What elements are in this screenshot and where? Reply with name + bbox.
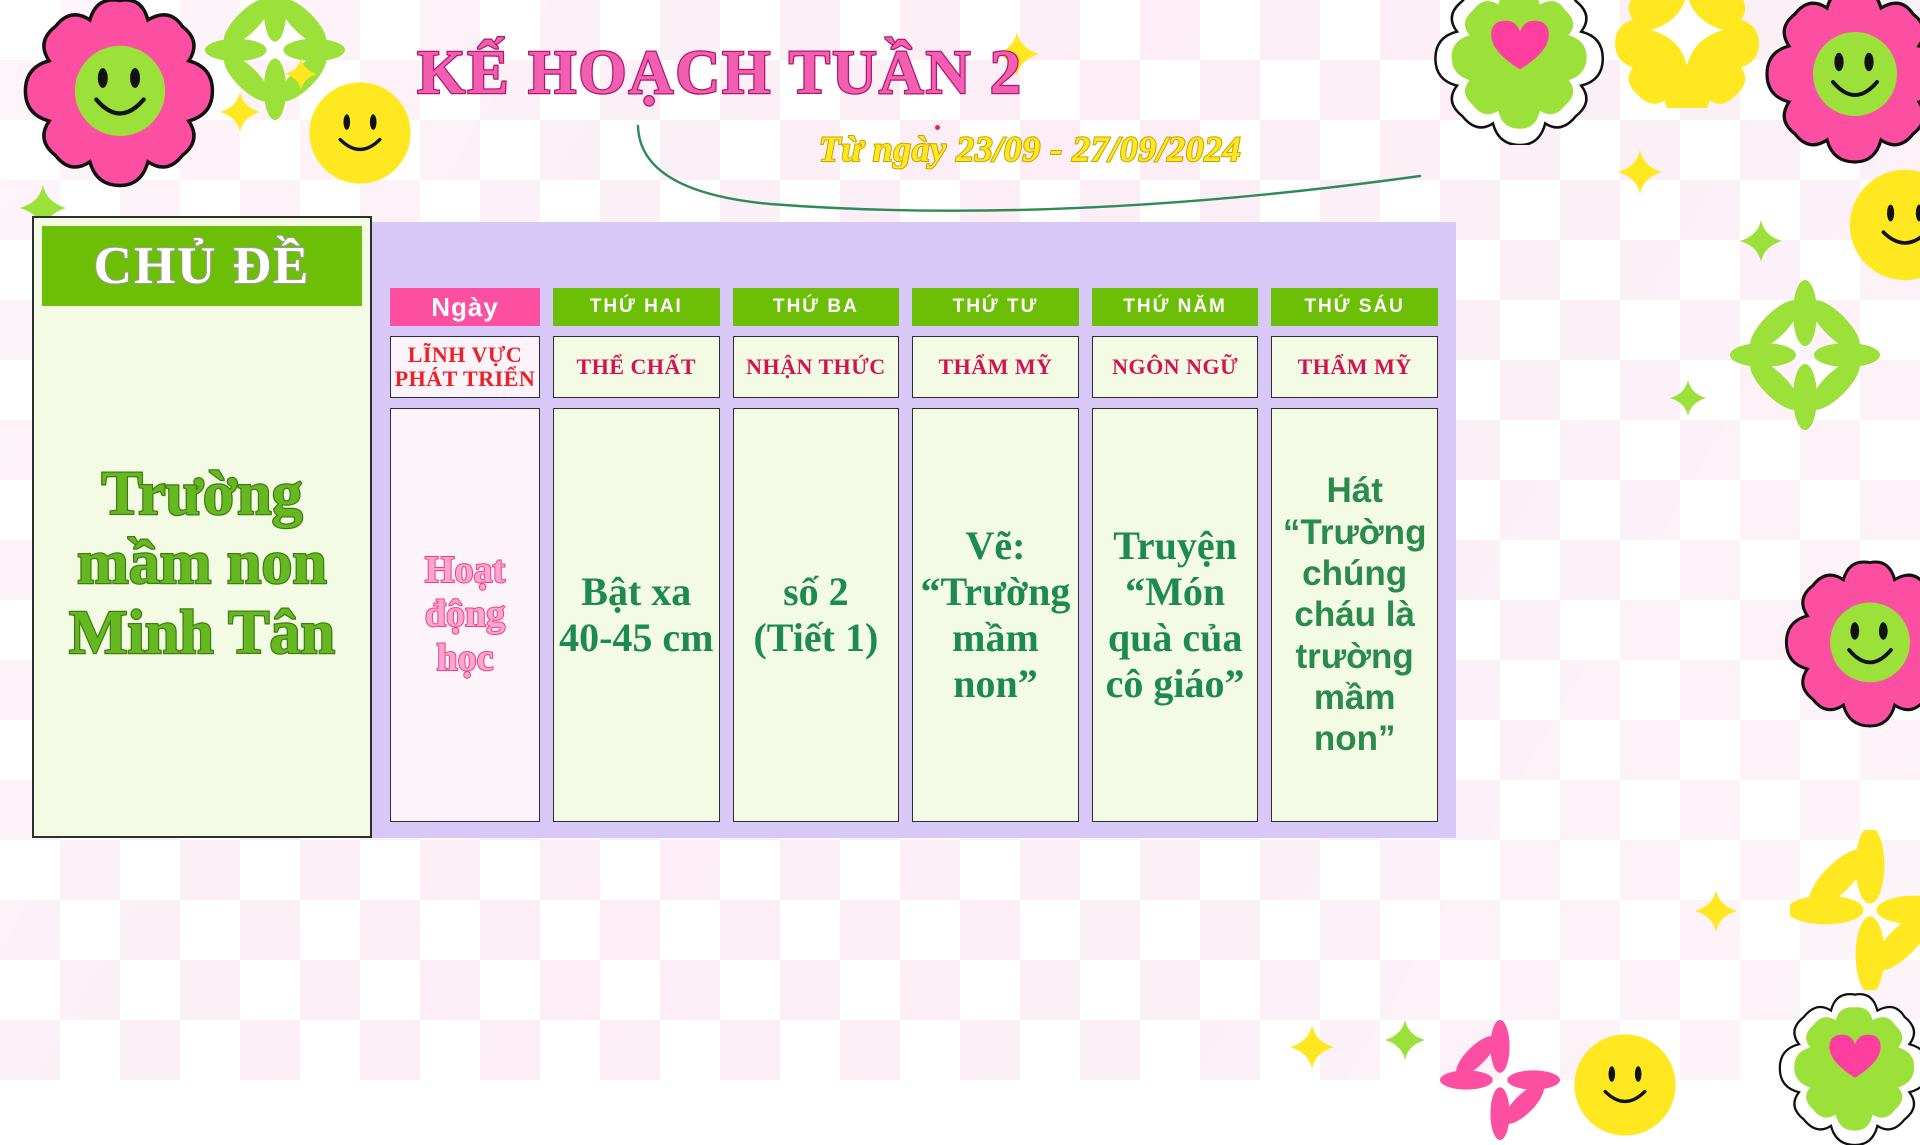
activity-label: Bật xa 40-45 cm (558, 569, 715, 661)
activity-cell-label[interactable]: Hoạt động học (390, 408, 540, 822)
day-header-label: THỨ NĂM (1123, 296, 1227, 318)
activity-label: Truyện “Món quà của cô giáo” (1097, 523, 1254, 707)
subject-label: THẨM MỸ (938, 355, 1052, 379)
day-header-label: THỨ BA (773, 296, 859, 318)
day-header-label: THỨ SÁU (1304, 296, 1404, 318)
topic-body: Trường mầm non Minh Tân (42, 306, 362, 826)
day-header-tuesday[interactable]: THỨ BA (733, 288, 900, 326)
day-header-label: THỨ TƯ (953, 296, 1039, 318)
activity-cell-thursday[interactable]: Truyện “Món quà của cô giáo” (1092, 408, 1259, 822)
activity-label: Vẽ: “Trường mầm non” (917, 523, 1074, 707)
day-header-label: Ngày (431, 292, 499, 323)
activity-cell-tuesday[interactable]: số 2 (Tiết 1) (733, 408, 900, 822)
subject-label: NGÔN NGỮ (1112, 355, 1238, 379)
activity-label: số 2 (Tiết 1) (738, 569, 895, 661)
swoosh-underline (630, 120, 1430, 215)
schedule-column-friday: THỨ SÁU THẨM MỸ Hát “Trường chúng cháu l… (1271, 288, 1438, 822)
subject-label: THỂ CHẤT (577, 355, 697, 379)
subject-cell-label[interactable]: LĨNH VỰC PHÁT TRIỂN (390, 336, 540, 398)
day-header-monday[interactable]: THỨ HAI (553, 288, 720, 326)
activity-cell-friday[interactable]: Hát “Trường chúng cháu là trường mầm non… (1271, 408, 1438, 822)
schedule-column-monday: THỨ HAI THỂ CHẤT Bật xa 40-45 cm (553, 288, 720, 822)
subject-cell-thursday[interactable]: NGÔN NGỮ (1092, 336, 1259, 398)
subject-cell-monday[interactable]: THỂ CHẤT (553, 336, 720, 398)
activity-label: Hát “Trường chúng cháu là trường mầm non… (1276, 470, 1433, 759)
activity-cell-monday[interactable]: Bật xa 40-45 cm (553, 408, 720, 822)
schedule-column-label: Ngày LĨNH VỰC PHÁT TRIỂN Hoạt động học (390, 288, 540, 822)
subject-label: NHẬN THỨC (746, 355, 886, 379)
subject-label: THẨM MỸ (1298, 355, 1412, 379)
red-dot-marker (935, 125, 940, 130)
schedule-grid: Ngày LĨNH VỰC PHÁT TRIỂN Hoạt động học T… (390, 288, 1438, 822)
activity-cell-wednesday[interactable]: Vẽ: “Trường mầm non” (912, 408, 1079, 822)
schedule-column-tuesday: THỨ BA NHẬN THỨC số 2 (Tiết 1) (733, 288, 900, 822)
subject-cell-wednesday[interactable]: THẨM MỸ (912, 336, 1079, 398)
day-header-friday[interactable]: THỨ SÁU (1271, 288, 1438, 326)
day-header-ngay[interactable]: Ngày (390, 288, 540, 326)
schedule-column-wednesday: THỨ TƯ THẨM MỸ Vẽ: “Trường mầm non” (912, 288, 1079, 822)
day-header-wednesday[interactable]: THỨ TƯ (912, 288, 1079, 326)
topic-heading-label: CHỦ ĐỀ (94, 236, 311, 296)
page-title: KẾ HOẠCH TUẦN 2 (0, 38, 1440, 109)
schedule-column-thursday: THỨ NĂM NGÔN NGỮ Truyện “Món quà của cô … (1092, 288, 1259, 822)
subject-label: LĨNH VỰC PHÁT TRIỂN (394, 343, 536, 391)
topic-card: CHỦ ĐỀ Trường mầm non Minh Tân (32, 216, 372, 838)
day-header-thursday[interactable]: THỨ NĂM (1092, 288, 1259, 326)
subject-cell-tuesday[interactable]: NHẬN THỨC (733, 336, 900, 398)
activity-label: Hoạt động học (395, 549, 535, 680)
subject-cell-friday[interactable]: THẨM MỸ (1271, 336, 1438, 398)
day-header-label: THỨ HAI (590, 296, 683, 318)
weekly-schedule-board: Ngày LĨNH VỰC PHÁT TRIỂN Hoạt động học T… (372, 222, 1456, 838)
topic-heading-banner: CHỦ ĐỀ (42, 226, 362, 306)
school-name-label: Trường mầm non Minh Tân (46, 460, 358, 668)
page-header: KẾ HOẠCH TUẦN 2 Từ ngày 23/09 - 27/09/20… (0, 0, 1920, 210)
